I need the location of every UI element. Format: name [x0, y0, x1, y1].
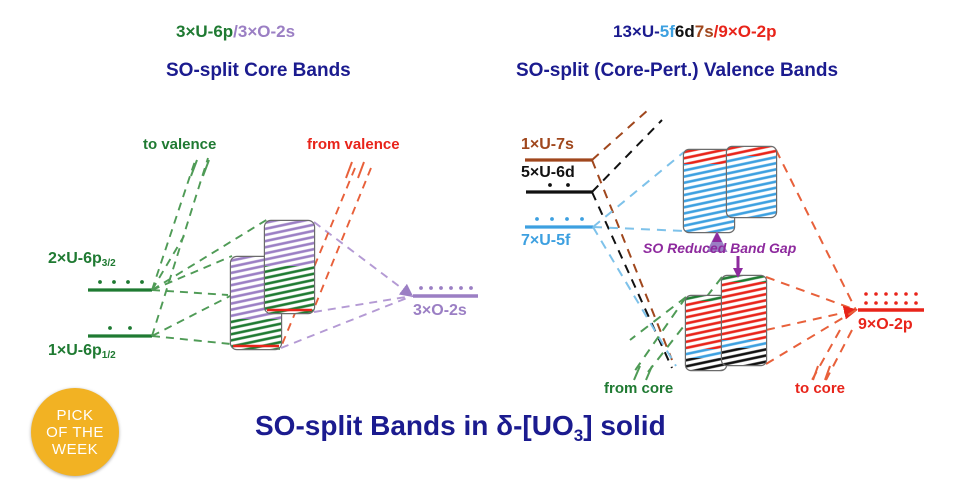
label-o2s: 3×O-2s [413, 302, 467, 320]
badge-line-1: PICK [56, 407, 93, 424]
right-orbital-line: 13×U-5f6d7s/9×O-2p [613, 22, 777, 42]
label-u6p12-main: 1×U-6p [48, 342, 102, 359]
band-gap-note: SO Reduced Band Gap [643, 240, 796, 256]
badge-line-2: OF THE [46, 424, 104, 441]
label-o2p: 9×O-2p [858, 316, 913, 334]
figure-title-sub: 3 [574, 426, 583, 445]
right-red-lines [766, 150, 856, 380]
right-orbital-p3: 6d [675, 22, 695, 41]
left-level-u6p32 [88, 280, 152, 290]
badge-line-3: WEEK [52, 441, 98, 458]
right-orbital-p4: 7s [695, 22, 714, 41]
right-orbital-p5: /9×O-2p [714, 22, 777, 41]
figure-title: SO-split Bands in δ-[UO3] solid [255, 410, 666, 446]
label-u7s: 1×U-7s [521, 136, 574, 154]
left-orbital-line: 3×U-6p/3×O-2s [176, 22, 295, 42]
right-level-u5f [525, 217, 593, 227]
label-u6p12: 1×U-6p1/2 [48, 342, 116, 361]
to-valence-label: to valence [143, 136, 216, 153]
figure-title-main: SO-split Bands in δ-[UO [255, 410, 574, 441]
from-valence-label: from valence [307, 136, 400, 153]
label-u6d: 5×U-6d [521, 164, 575, 182]
right-brown-lines [592, 110, 672, 360]
left-panel-heading: SO-split Core Bands [166, 60, 351, 82]
right-blue-lines [593, 152, 684, 366]
label-u6p32: 2×U-6p3/2 [48, 250, 116, 269]
left-orbital-part2: 3×O-2s [238, 22, 295, 41]
label-u5f: 7×U-5f [521, 232, 570, 250]
pick-of-the-week-badge: PICK OF THE WEEK [31, 388, 119, 476]
valence-band-box-right [722, 276, 766, 365]
label-u6p12-sub: 1/2 [102, 350, 116, 361]
right-orbital-p2: 5f [660, 22, 675, 41]
left-level-u6p12 [88, 326, 152, 336]
valence-band-box-left [686, 296, 726, 370]
right-panel-heading: SO-split (Core-Pert.) Valence Bands [516, 60, 838, 82]
right-level-u6d [526, 183, 592, 192]
right-orbital-p1: 13×U- [613, 22, 660, 41]
label-u6p32-sub: 3/2 [102, 258, 116, 269]
right-level-o2p [858, 292, 924, 310]
left-orbital-part1: 3×U-6p [176, 22, 233, 41]
conduction-band-box-right [727, 147, 776, 217]
figure-title-tail: ] solid [583, 410, 665, 441]
left-level-o2s [413, 286, 478, 296]
to-core-label: to core [795, 380, 845, 397]
figure-canvas: 3×U-6p/3×O-2s SO-split Core Bands 13×U-5… [0, 0, 960, 480]
core-band-box-right [265, 221, 314, 313]
from-core-label: from core [604, 380, 673, 397]
label-u6p32-main: 2×U-6p [48, 250, 102, 267]
